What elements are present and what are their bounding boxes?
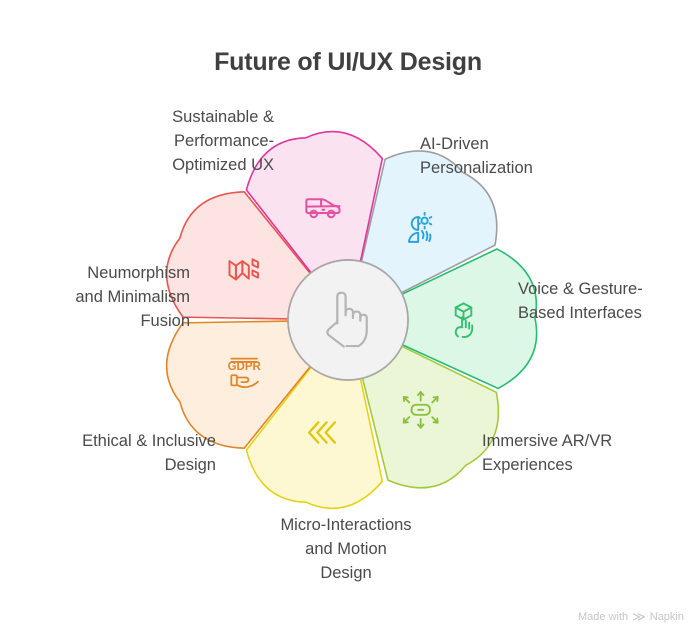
petal-label-immersive-ar-vr-experiences: Immersive AR/VR Experiences xyxy=(482,429,672,477)
petal-label-ai-driven-personalization: AI-Driven Personalization xyxy=(420,132,600,180)
center-hub xyxy=(288,260,408,380)
petal-label-neumorphism-and-minimalism-fusion: Neumorphism and Minimalism Fusion xyxy=(30,261,190,333)
center-circle[interactable] xyxy=(288,260,408,380)
petal-label-micro-interactions-and-motion-design: Micro-Interactions and Motion Design xyxy=(246,513,446,585)
petal-label-voice-gesture-based-interfaces: Voice & Gesture- Based Interfaces xyxy=(518,277,693,325)
petal-label-ethical-and-inclusive-design: Ethical & Inclusive Design xyxy=(36,429,216,477)
watermark-brand: Napkin xyxy=(650,611,684,623)
napkin-logo-icon: ≫ xyxy=(632,610,646,623)
watermark: Made with ≫ Napkin xyxy=(578,610,684,623)
watermark-prefix: Made with xyxy=(578,611,628,623)
svg-text:GDPR: GDPR xyxy=(228,361,262,373)
petal-label-sustainable-performance-optimized-ux: Sustainable & Performance- Optimized UX xyxy=(126,105,274,177)
diagram-canvas: Future of UI/UX Design GDPR AI-Driven Pe… xyxy=(0,0,696,637)
